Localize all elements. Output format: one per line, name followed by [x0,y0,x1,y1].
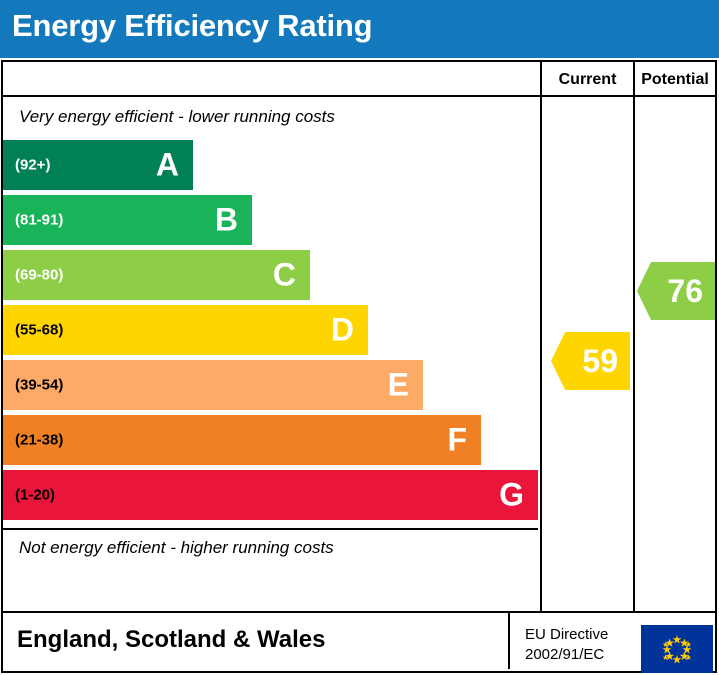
current-rating-badge: 59 [551,332,630,390]
column-header-current: Current [542,62,633,97]
band-letter-g: G [499,477,524,514]
potential-rating-value: 76 [667,273,703,310]
band-letter-e: E [388,367,409,404]
band-bar-a: (92+) A [3,140,193,190]
eu-directive-line1: EU Directive [525,625,608,645]
page-title: Energy Efficiency Rating [12,8,372,44]
footer-region-label: England, Scotland & Wales [17,626,325,654]
band-bar-b: (81-91) B [3,195,252,245]
chart-frame: Current Potential Very energy efficient … [1,60,717,613]
band-bar-d: (55-68) D [3,305,368,355]
band-letter-a: A [156,147,179,184]
footer-note-separator [3,528,538,530]
band-bar-e: (39-54) E [3,360,423,410]
eu-directive-label: EU Directive 2002/91/EC [525,625,608,665]
footer-bar: England, Scotland & Wales EU Directive 2… [1,613,717,673]
note-top: Very energy efficient - lower running co… [19,107,335,127]
epc-chart: Energy Efficiency Rating Current Potenti… [0,0,719,675]
band-range-f: (21-38) [15,432,63,449]
divider-current [540,62,542,611]
band-letter-d: D [331,312,354,349]
band-bar-g: (1-20) G [3,470,538,520]
band-range-e: (39-54) [15,377,63,394]
band-letter-f: F [447,422,467,459]
band-range-g: (1-20) [15,487,55,504]
divider-potential [633,62,635,611]
band-letter-b: B [215,202,238,239]
potential-rating-badge: 76 [637,262,715,320]
eu-directive-line2: 2002/91/EC [525,645,608,665]
band-letter-c: C [273,257,296,294]
eu-flag-icon [641,625,713,673]
band-bar-f: (21-38) F [3,415,481,465]
note-bottom: Not energy efficient - higher running co… [19,538,334,558]
column-header-potential: Potential [635,62,715,97]
band-range-b: (81-91) [15,212,63,229]
band-range-d: (55-68) [15,322,63,339]
title-bar: Energy Efficiency Rating [0,0,719,58]
band-range-c: (69-80) [15,267,63,284]
band-bar-c: (69-80) C [3,250,310,300]
current-rating-value: 59 [582,343,618,380]
band-range-a: (92+) [15,157,50,174]
footer-divider [508,613,510,669]
